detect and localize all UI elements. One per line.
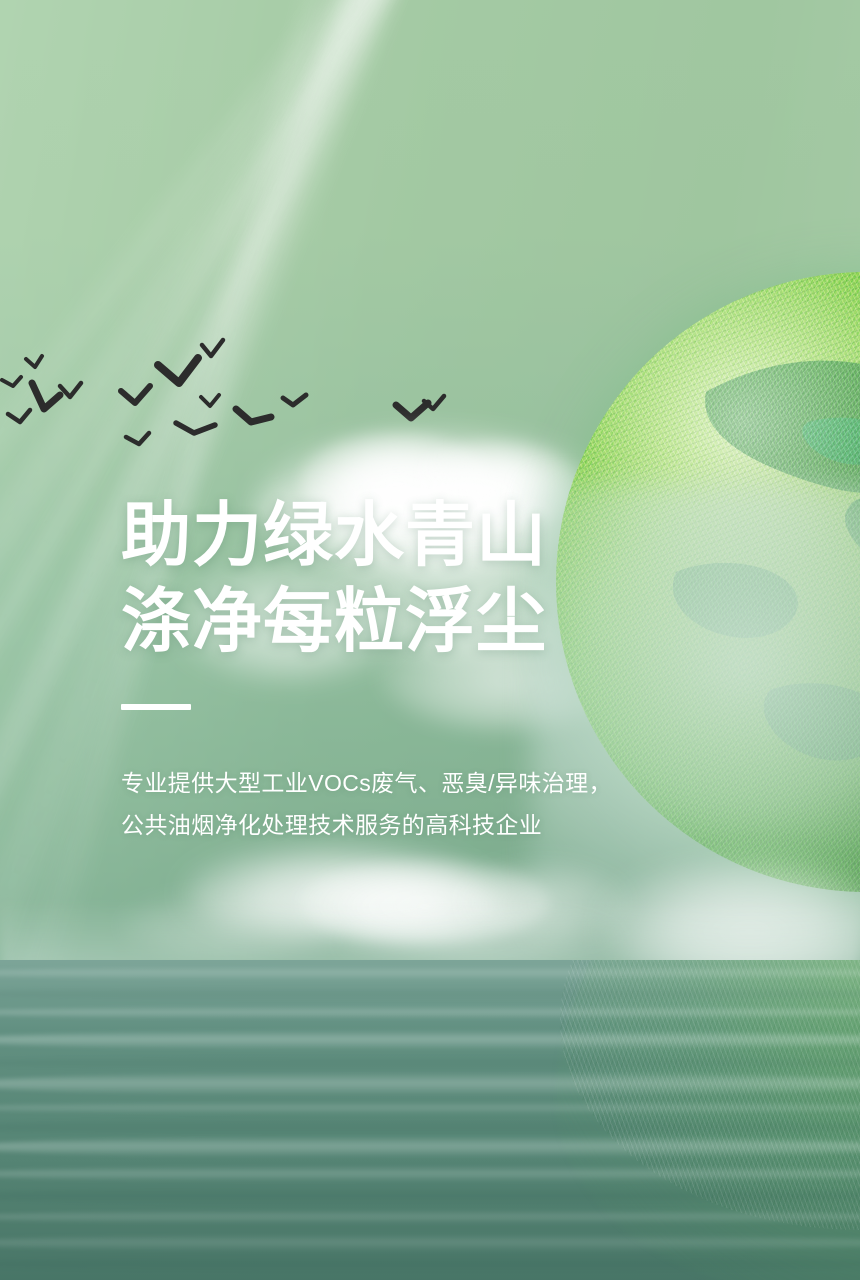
hero-subtitle: 专业提供大型工业VOCs废气、恶臭/异味治理， 公共油烟净化处理技术服务的高科技… bbox=[121, 762, 681, 846]
subtitle-line-2: 公共油烟净化处理技术服务的高科技企业 bbox=[121, 804, 681, 846]
headline-line-2: 涤净每粒浮尘 bbox=[121, 578, 681, 664]
page-title: 助力绿水青山 涤净每粒浮尘 bbox=[121, 492, 681, 664]
water-surface bbox=[0, 960, 860, 1280]
eco-hero-poster: 助力绿水青山 涤净每粒浮尘 专业提供大型工业VOCs废气、恶臭/异味治理， 公共… bbox=[0, 0, 860, 1280]
water-veil bbox=[0, 960, 860, 1280]
headline-line-1: 助力绿水青山 bbox=[121, 492, 681, 578]
title-divider bbox=[121, 704, 191, 710]
subtitle-line-1: 专业提供大型工业VOCs废气、恶臭/异味治理， bbox=[121, 762, 681, 804]
hero-copy-block: 助力绿水青山 涤净每粒浮尘 专业提供大型工业VOCs废气、恶臭/异味治理， 公共… bbox=[121, 492, 681, 846]
